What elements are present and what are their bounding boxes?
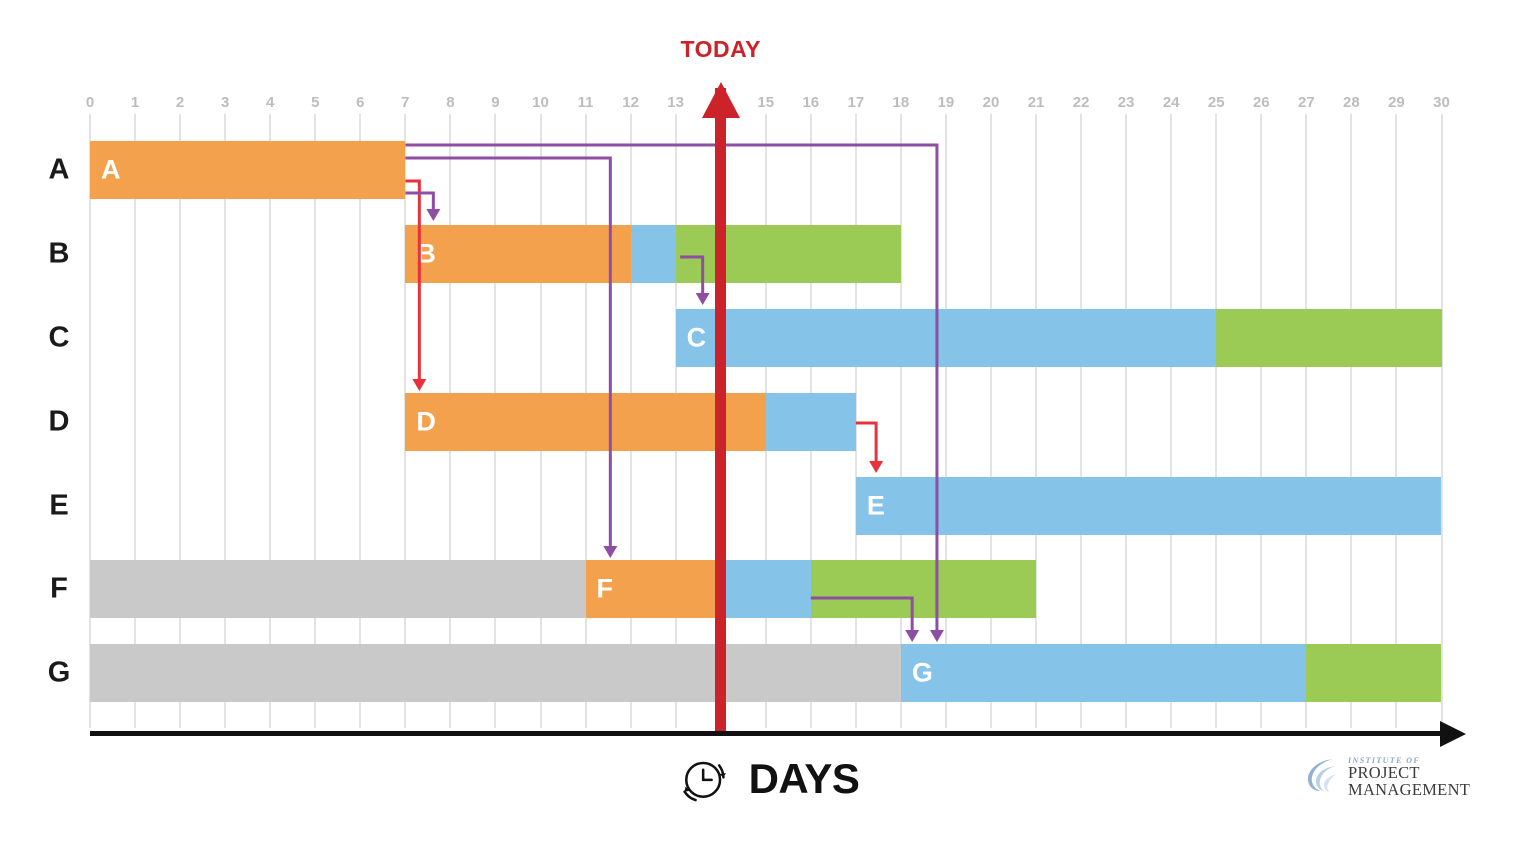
days-footer: DAYS [0, 752, 1536, 806]
x-tick-label-17: 17 [848, 94, 865, 111]
x-tick-label-4: 4 [266, 94, 274, 111]
x-tick-label-22: 22 [1073, 94, 1090, 111]
dependency-arrow-A-to-F [405, 158, 610, 546]
gridline-day-29 [1395, 114, 1397, 728]
dependency-arrowhead-B-to-C [696, 293, 710, 305]
gridline-day-30 [1441, 114, 1443, 728]
dependency-arrowhead-A-to-F [603, 546, 617, 558]
task-bar-F-segment-3[interactable] [721, 560, 811, 618]
gridline-day-26 [1260, 114, 1262, 728]
x-tick-label-16: 16 [802, 94, 819, 111]
x-tick-label-23: 23 [1118, 94, 1135, 111]
x-axis-line [90, 731, 1442, 736]
today-vertical-line [715, 88, 726, 736]
row-label-F: F [38, 573, 80, 606]
x-tick-label-15: 15 [757, 94, 774, 111]
task-bar-label-D: D [416, 407, 436, 438]
x-tick-label-19: 19 [938, 94, 955, 111]
task-bar-G-segment-1[interactable] [90, 644, 901, 702]
dependency-arrow-A-to-B [405, 193, 433, 209]
logo-swoosh-icon [1307, 757, 1341, 798]
x-tick-label-9: 9 [491, 94, 499, 111]
x-tick-label-0: 0 [86, 94, 94, 111]
dependency-arrowhead-F-to-G [905, 630, 919, 642]
x-tick-label-13: 13 [667, 94, 684, 111]
dependency-arrow-A-to-G [405, 145, 937, 630]
dependency-arrowhead-A-to-G [930, 630, 944, 642]
task-bar-F-segment-1[interactable] [90, 560, 586, 618]
task-bar-D-segment-2[interactable] [766, 393, 856, 451]
x-tick-label-1: 1 [131, 94, 139, 111]
row-label-C: C [38, 322, 80, 355]
gridline-day-3 [224, 114, 226, 728]
x-tick-label-8: 8 [446, 94, 454, 111]
x-tick-label-11: 11 [578, 94, 594, 111]
gridline-day-24 [1170, 114, 1172, 728]
x-tick-label-5: 5 [311, 94, 319, 111]
gridline-day-23 [1125, 114, 1127, 728]
task-bar-label-A: A [101, 155, 121, 186]
gridline-day-27 [1305, 114, 1307, 728]
x-tick-label-24: 24 [1163, 94, 1180, 111]
gridline-day-6 [359, 114, 361, 728]
x-tick-label-26: 26 [1253, 94, 1270, 111]
institute-of-project-management-logo: INSTITUTE OF PROJECT MANAGEMENT [1307, 757, 1470, 798]
task-bar-B-segment-3[interactable] [676, 225, 901, 283]
dependency-arrowhead-D-to-E [869, 461, 883, 473]
dependency-arrow-D-to-E [856, 423, 876, 461]
gridline-day-20 [990, 114, 992, 728]
row-label-G: G [38, 657, 80, 690]
task-bar-B-segment-2[interactable] [631, 225, 676, 283]
x-tick-label-21: 21 [1028, 94, 1045, 111]
logo-line-management: MANAGEMENT [1348, 782, 1470, 799]
today-label-text: TODAY [621, 36, 821, 63]
x-tick-label-3: 3 [221, 94, 229, 111]
x-tick-label-6: 6 [356, 94, 364, 111]
row-label-D: D [38, 406, 80, 439]
task-bar-label-F: F [597, 574, 614, 605]
gridline-day-25 [1215, 114, 1217, 728]
task-bar-label-B: B [416, 239, 436, 270]
days-axis-title: DAYS [749, 755, 860, 803]
x-tick-label-29: 29 [1388, 94, 1405, 111]
gridline-day-1 [134, 114, 136, 728]
task-bar-A-segment-1[interactable]: A [90, 141, 405, 199]
gridline-day-18 [900, 114, 902, 728]
task-bar-C-segment-1[interactable]: C [676, 309, 1217, 367]
x-tick-label-7: 7 [401, 94, 409, 111]
x-tick-label-10: 10 [532, 94, 549, 111]
task-bar-D-segment-1[interactable]: D [405, 393, 765, 451]
gridline-day-22 [1080, 114, 1082, 728]
today-arrowhead [702, 82, 740, 118]
gridline-day-21 [1035, 114, 1037, 728]
task-bar-F-segment-4[interactable] [811, 560, 1036, 618]
task-bar-label-E: E [867, 491, 885, 522]
task-bar-G-segment-3[interactable] [1306, 644, 1441, 702]
x-tick-label-27: 27 [1298, 94, 1315, 111]
task-bar-B-segment-1[interactable]: B [405, 225, 630, 283]
row-label-E: E [38, 490, 80, 523]
gantt-chart-canvas: TODAY 0123456789101112131415161718192021… [0, 0, 1536, 864]
x-tick-label-18: 18 [893, 94, 910, 111]
row-label-B: B [38, 238, 80, 271]
row-label-A: A [38, 154, 80, 187]
task-bar-label-G: G [912, 658, 933, 689]
task-bar-C-segment-2[interactable] [1216, 309, 1441, 367]
task-bar-G-segment-2[interactable]: G [901, 644, 1306, 702]
x-tick-label-28: 28 [1343, 94, 1360, 111]
gridline-day-5 [314, 114, 316, 728]
gridline-day-19 [945, 114, 947, 728]
gridline-day-0 [89, 114, 91, 728]
dependency-arrowhead-A-to-D [412, 379, 426, 391]
task-bar-E-segment-1[interactable]: E [856, 477, 1442, 535]
x-tick-label-20: 20 [983, 94, 1000, 111]
gridline-day-2 [179, 114, 181, 728]
x-tick-label-30: 30 [1433, 94, 1450, 111]
x-tick-label-25: 25 [1208, 94, 1225, 111]
x-axis-arrowhead [1440, 721, 1466, 747]
gridline-day-28 [1350, 114, 1352, 728]
task-bar-F-segment-2[interactable]: F [586, 560, 721, 618]
x-tick-label-2: 2 [176, 94, 184, 111]
x-tick-label-12: 12 [622, 94, 639, 111]
clock-icon [677, 752, 731, 806]
task-bar-label-C: C [687, 323, 707, 354]
dependency-arrowhead-A-to-B [426, 209, 440, 221]
gridline-day-4 [269, 114, 271, 728]
